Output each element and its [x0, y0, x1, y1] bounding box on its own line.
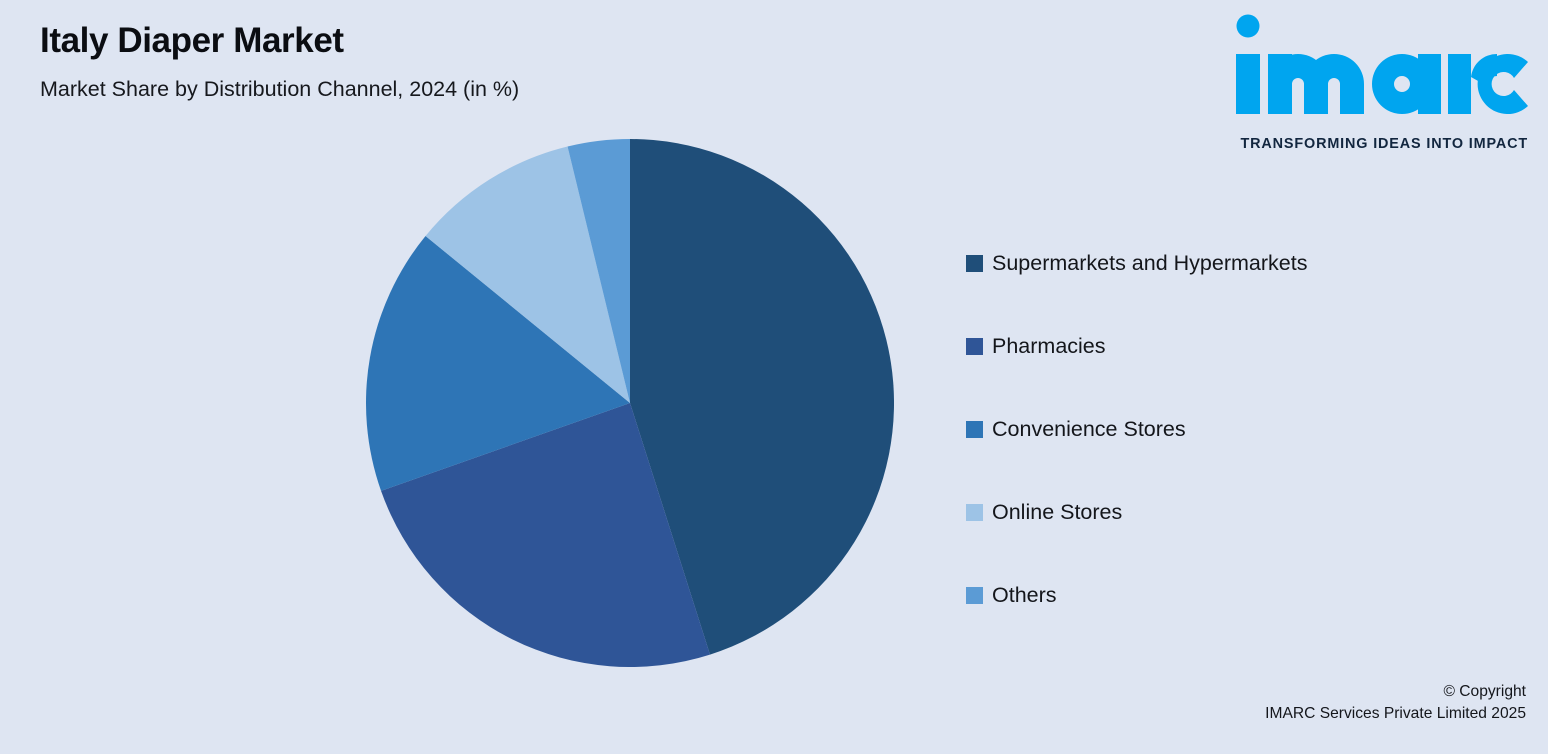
chart-legend: Supermarkets and Hypermarkets Pharmacies…: [966, 222, 1486, 637]
legend-swatch-icon: [966, 421, 983, 438]
pie-chart: [366, 139, 894, 667]
copyright-block: © Copyright IMARC Services Private Limit…: [1265, 681, 1526, 726]
legend-swatch-icon: [966, 587, 983, 604]
logo-tagline: TRANSFORMING IDEAS INTO IMPACT: [1241, 136, 1529, 152]
copyright-line-1: © Copyright: [1265, 681, 1526, 704]
pie-chart-svg: [366, 139, 894, 667]
legend-item-convenience-stores[interactable]: Convenience Stores: [966, 388, 1486, 471]
legend-swatch-icon: [966, 338, 983, 355]
legend-item-supermarkets-and-hypermarkets[interactable]: Supermarkets and Hypermarkets: [966, 222, 1486, 305]
legend-label: Pharmacies: [992, 336, 1106, 358]
legend-swatch-icon: [966, 504, 983, 521]
copyright-line-2: IMARC Services Private Limited 2025: [1265, 703, 1526, 726]
imarc-logo: TRANSFORMING IDEAS INTO IMPACT: [1220, 14, 1530, 144]
legend-label: Online Stores: [992, 502, 1122, 524]
legend-item-pharmacies[interactable]: Pharmacies: [966, 305, 1486, 388]
chart-subtitle: Market Share by Distribution Channel, 20…: [40, 77, 940, 102]
page-title: Italy Diaper Market: [40, 22, 940, 61]
legend-item-online-stores[interactable]: Online Stores: [966, 471, 1486, 554]
pie-slice-group: [366, 139, 894, 667]
legend-item-others[interactable]: Others: [966, 554, 1486, 637]
legend-label: Others: [992, 585, 1057, 607]
imarc-wordmark-icon: [1230, 14, 1530, 118]
legend-swatch-icon: [966, 255, 983, 272]
chart-canvas: Italy Diaper Market Market Share by Dist…: [0, 0, 1548, 754]
header: Italy Diaper Market Market Share by Dist…: [40, 22, 940, 101]
legend-label: Convenience Stores: [992, 419, 1186, 441]
legend-label: Supermarkets and Hypermarkets: [992, 253, 1307, 275]
